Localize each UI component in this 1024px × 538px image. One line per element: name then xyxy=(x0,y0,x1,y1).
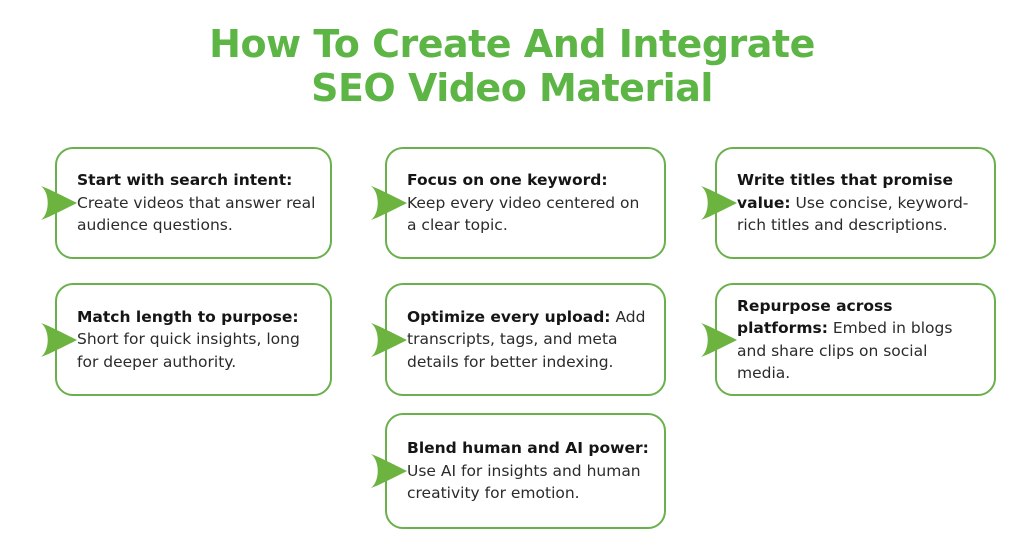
tip-card-text: Start with search intent: Create videos … xyxy=(57,169,330,237)
tip-card-text: Write titles that promise value: Use con… xyxy=(717,169,994,237)
tip-card-body: Keep every video centered on a clear top… xyxy=(407,194,639,235)
tip-card-text: Focus on one keyword: Keep every video c… xyxy=(387,169,664,237)
tip-card-label: Start with search intent: xyxy=(77,171,292,189)
tip-card-start-with-search-intent[interactable]: Start with search intent: Create videos … xyxy=(55,147,332,259)
tip-card-text: Repurpose across platforms: Embed in blo… xyxy=(717,295,994,385)
page-title-line-1: How To Create And Integrate xyxy=(0,22,1024,66)
tip-card-body: Use AI for insights and human creativity… xyxy=(407,462,641,503)
tip-card-label: Optimize every upload: xyxy=(407,308,611,326)
tip-card-optimize-every-upload[interactable]: Optimize every upload: Add transcripts, … xyxy=(385,283,666,396)
tip-card-repurpose-across-platforms[interactable]: Repurpose across platforms: Embed in blo… xyxy=(715,283,996,396)
tip-card-body: Short for quick insights, long for deepe… xyxy=(77,330,300,371)
tip-card-label: Focus on one keyword: xyxy=(407,171,608,189)
tip-card-label: Match length to purpose: xyxy=(77,308,299,326)
tip-card-text: Match length to purpose: Short for quick… xyxy=(57,306,330,374)
tip-card-text: Blend human and AI power: Use AI for ins… xyxy=(387,437,664,505)
tip-card-focus-on-one-keyword[interactable]: Focus on one keyword: Keep every video c… xyxy=(385,147,666,259)
tip-card-text: Optimize every upload: Add transcripts, … xyxy=(387,306,664,374)
page-title-line-2: SEO Video Material xyxy=(0,66,1024,110)
infographic-root: How To Create And Integrate SEO Video Ma… xyxy=(0,0,1024,538)
tip-card-blend-human-and-ai-power[interactable]: Blend human and AI power: Use AI for ins… xyxy=(385,413,666,529)
tip-card-match-length-to-purpose[interactable]: Match length to purpose: Short for quick… xyxy=(55,283,332,396)
tip-card-write-titles-that-promise-value[interactable]: Write titles that promise value: Use con… xyxy=(715,147,996,259)
tip-card-label: Blend human and AI power: xyxy=(407,439,649,457)
tip-card-body: Create videos that answer real audience … xyxy=(77,194,315,235)
page-title: How To Create And Integrate SEO Video Ma… xyxy=(0,22,1024,110)
